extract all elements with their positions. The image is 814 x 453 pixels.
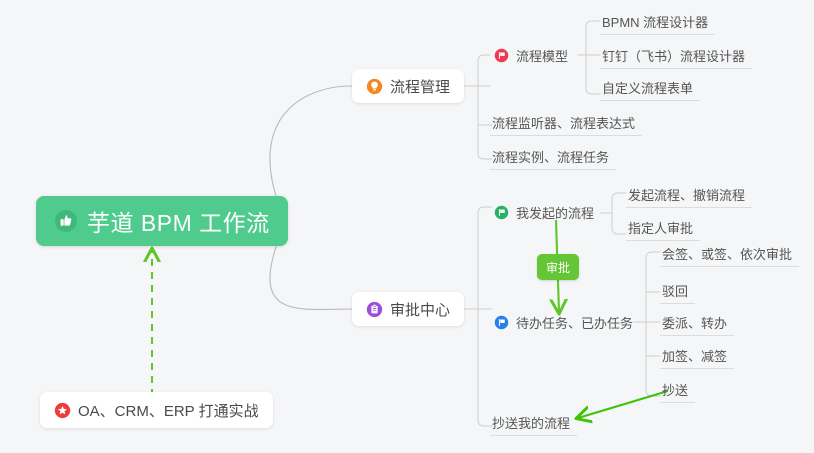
node-process-model-label: 流程模型: [516, 46, 568, 65]
branch-process-management[interactable]: 流程管理: [352, 69, 464, 103]
node-process-listener-label: 流程监听器、流程表达式: [492, 113, 635, 132]
root-node-label: 芋道 BPM 工作流: [87, 204, 270, 238]
leaf-add-remove-sign[interactable]: 加签、减签: [660, 342, 734, 369]
node-cc-to-me[interactable]: 抄送我的流程: [490, 409, 577, 436]
node-todo-done-tasks-label: 待办任务、已办任务: [516, 313, 633, 332]
node-process-model[interactable]: 流程模型: [492, 42, 575, 69]
leaf-delegate-transfer-label: 委派、转办: [662, 313, 727, 332]
node-process-listener[interactable]: 流程监听器、流程表达式: [490, 109, 642, 136]
leaf-assignee-approval-label: 指定人审批: [628, 218, 693, 237]
node-process-instance-label: 流程实例、流程任务: [492, 147, 609, 166]
branch-approval-center[interactable]: 审批中心: [352, 292, 464, 326]
node-my-initiated-label: 我发起的流程: [516, 203, 594, 222]
leaf-delegate-transfer[interactable]: 委派、转办: [660, 309, 734, 336]
thumbs-up-icon: [54, 209, 78, 233]
leaf-custom-form-label: 自定义流程表单: [602, 78, 693, 97]
leaf-custom-form[interactable]: 自定义流程表单: [600, 74, 700, 101]
mindmap-canvas: 芋道 BPM 工作流 OA、CRM、ERP 打通实战 流程管理: [0, 0, 814, 453]
annotation-approval-tag-label: 审批: [546, 259, 570, 276]
note-node-label: OA、CRM、ERP 打通实战: [78, 400, 259, 421]
leaf-start-cancel-process-label: 发起流程、撤销流程: [628, 185, 745, 204]
leaf-assignee-approval[interactable]: 指定人审批: [626, 214, 700, 241]
leaf-reject[interactable]: 驳回: [660, 277, 695, 304]
leaf-dingtalk-designer-label: 钉钉（飞书）流程设计器: [602, 46, 745, 65]
annotation-approval-tag[interactable]: 审批: [537, 254, 579, 280]
star-icon: [54, 402, 71, 419]
leaf-add-remove-sign-label: 加签、减签: [662, 346, 727, 365]
leaf-carbon-copy[interactable]: 抄送: [660, 376, 695, 403]
flag-icon: [494, 315, 509, 330]
branch-approval-center-label: 审批中心: [390, 299, 450, 320]
leaf-bpmn-designer[interactable]: BPMN 流程设计器: [600, 8, 715, 35]
node-cc-to-me-label: 抄送我的流程: [492, 413, 570, 432]
leaf-start-cancel-process[interactable]: 发起流程、撤销流程: [626, 181, 752, 208]
flag-icon: [494, 205, 509, 220]
leaf-bpmn-designer-label: BPMN 流程设计器: [602, 12, 708, 31]
branch-process-management-label: 流程管理: [390, 76, 450, 97]
leaf-dingtalk-designer[interactable]: 钉钉（飞书）流程设计器: [600, 42, 752, 69]
flag-icon: [494, 48, 509, 63]
note-node[interactable]: OA、CRM、ERP 打通实战: [40, 392, 273, 428]
cc-flow-arrow: [578, 391, 668, 418]
node-process-instance[interactable]: 流程实例、流程任务: [490, 143, 616, 170]
node-todo-done-tasks[interactable]: 待办任务、已办任务: [492, 309, 640, 336]
clipboard-icon: [366, 301, 383, 318]
leaf-reject-label: 驳回: [662, 281, 688, 300]
node-my-initiated[interactable]: 我发起的流程: [492, 199, 601, 226]
lightbulb-icon: [366, 78, 383, 95]
leaf-multi-sign-label: 会签、或签、依次审批: [662, 244, 792, 263]
root-node[interactable]: 芋道 BPM 工作流: [36, 196, 288, 246]
leaf-carbon-copy-label: 抄送: [662, 380, 688, 399]
leaf-multi-sign[interactable]: 会签、或签、依次审批: [660, 240, 799, 267]
